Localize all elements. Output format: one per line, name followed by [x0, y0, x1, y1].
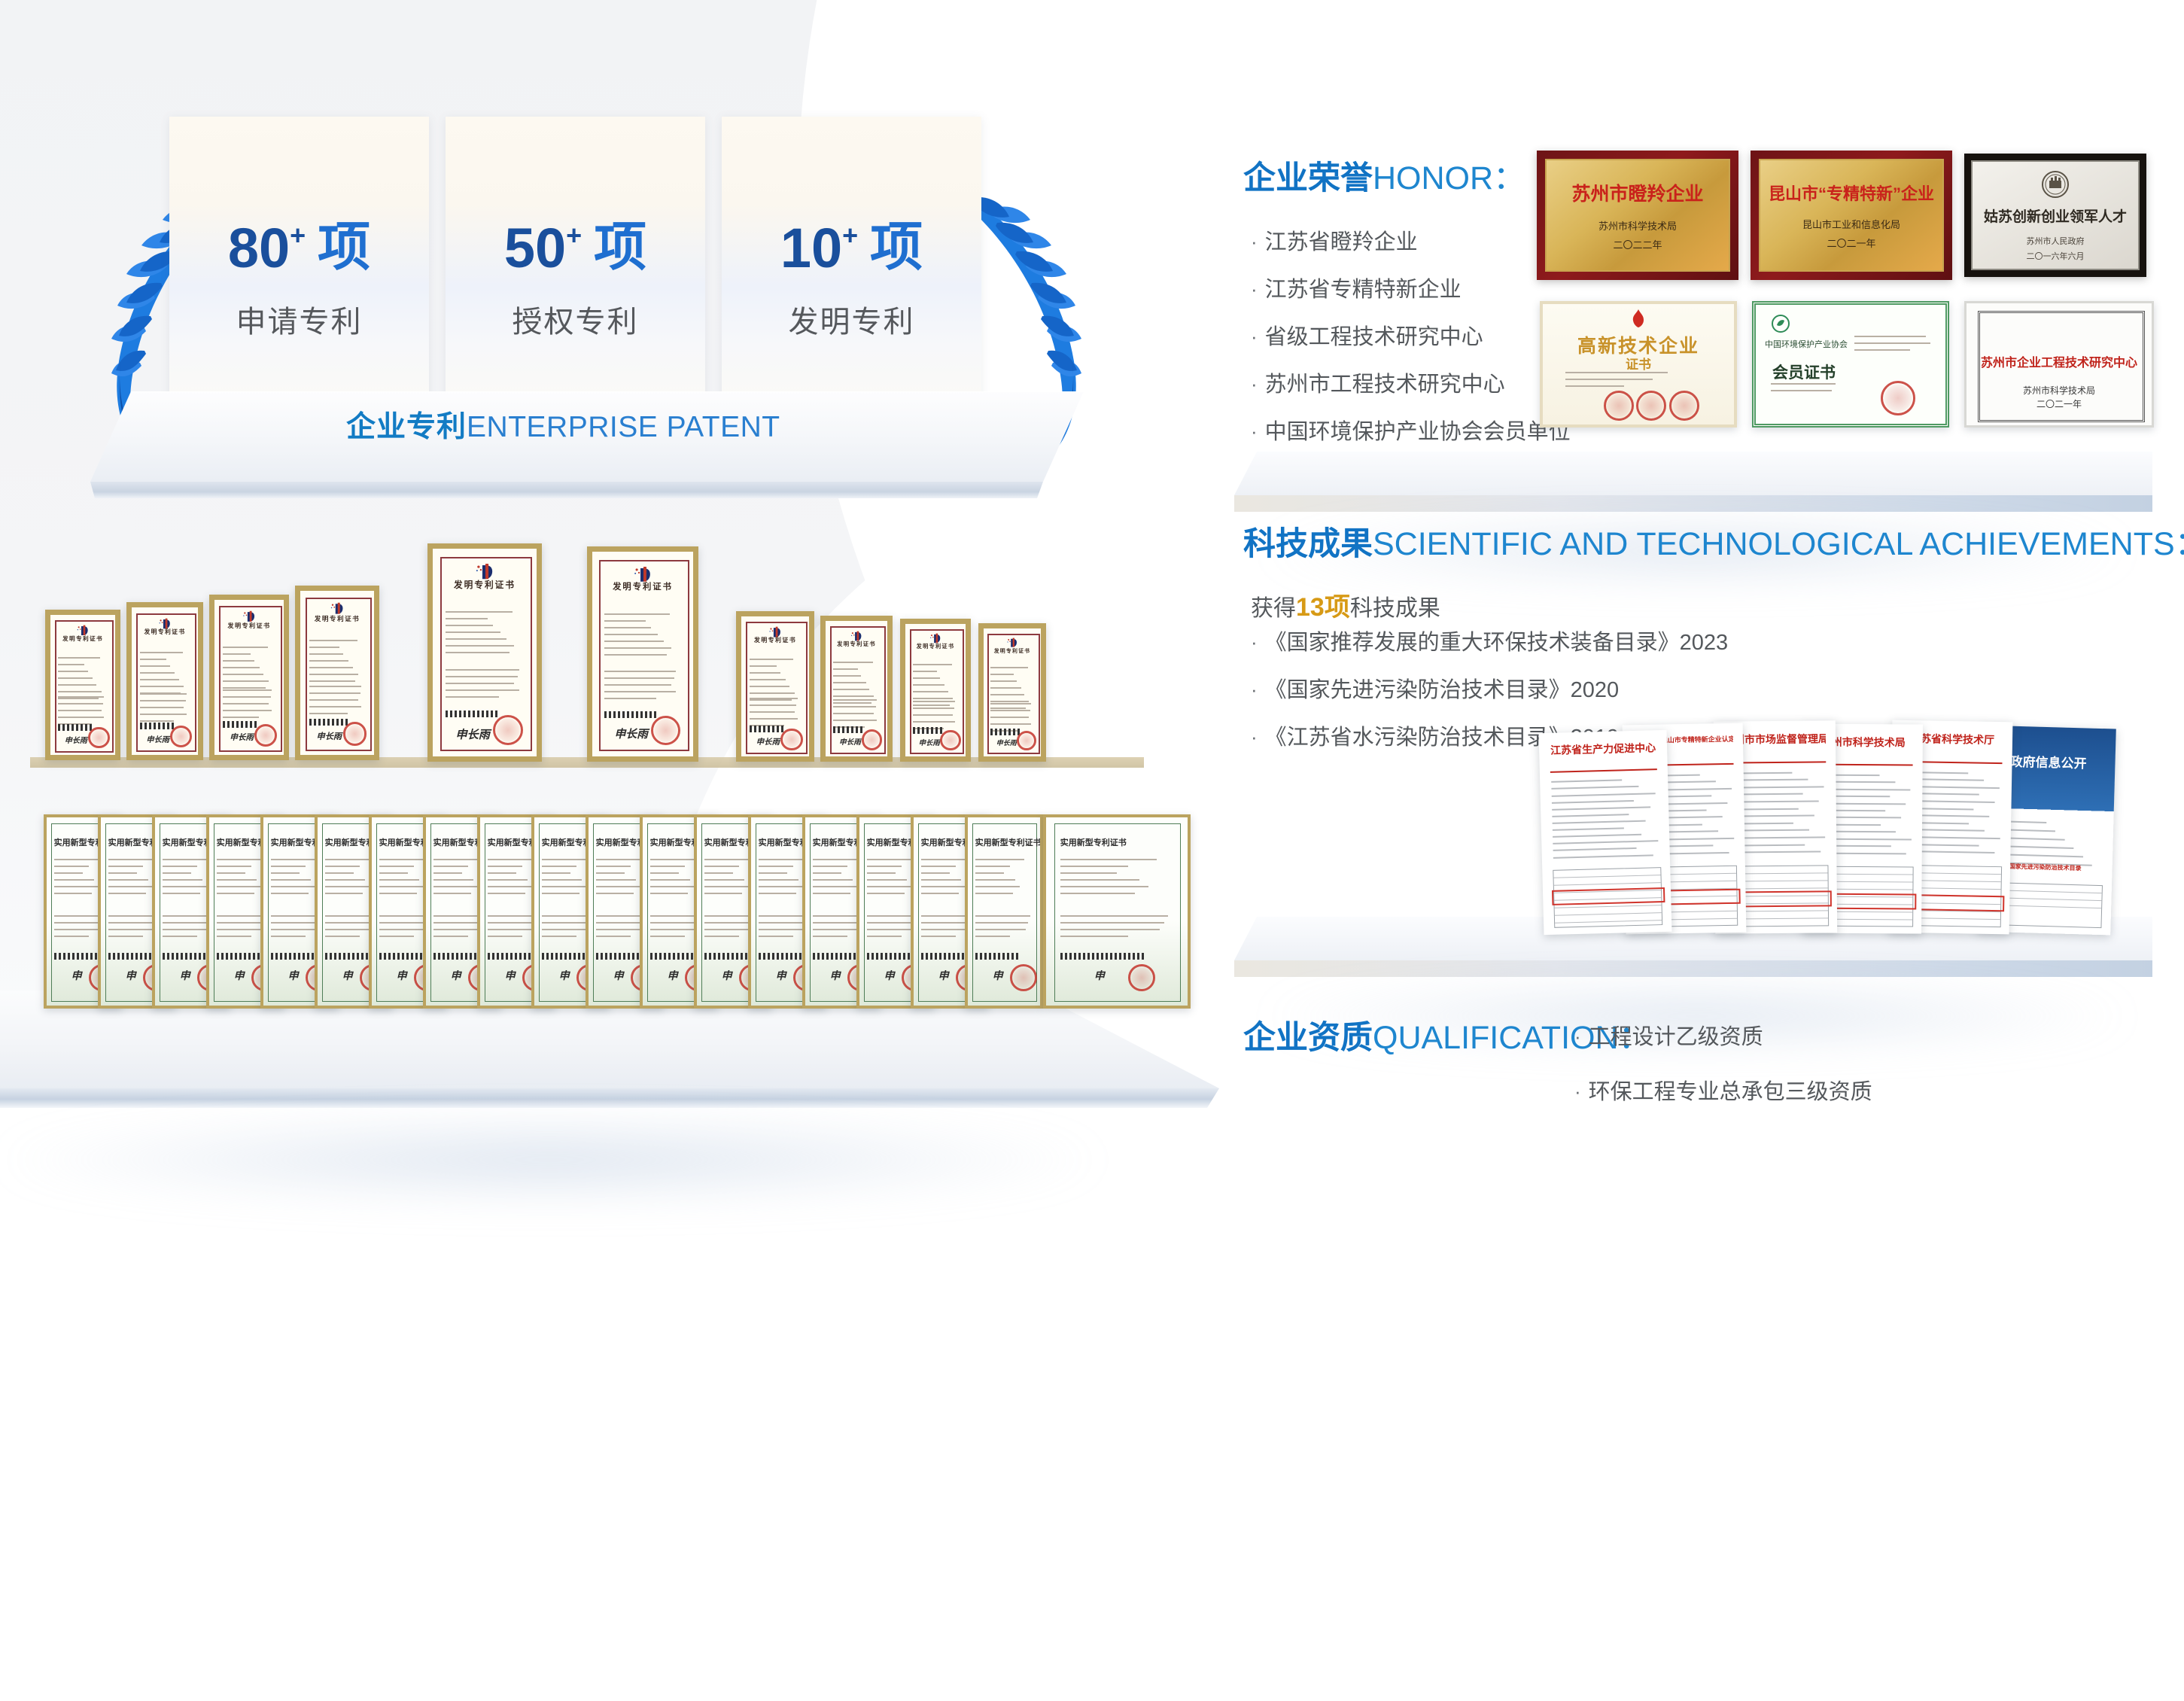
certificate-barcode [433, 953, 477, 960]
shelf-front-edge [1234, 960, 2152, 977]
certificate-text-lines [1854, 336, 1934, 356]
stat-label-applied: 申请专利 [236, 297, 363, 341]
certificate-signature: 申长雨 [65, 734, 87, 745]
certificate-barcode [813, 953, 856, 960]
certificate-barcode [704, 953, 748, 960]
stat-number: 80 [228, 221, 290, 276]
certificate-signature: 申 [451, 968, 461, 983]
shelf-top-surface [1234, 452, 2152, 495]
plaque-face: 姑苏创新创业领军人才 苏州市人民政府 二〇一六年六月 [1971, 160, 2140, 270]
certificate-high-tech-enterprise[interactable]: 高新技术企业 证书 [1540, 301, 1737, 428]
certificate-title: 发明专利证书 [905, 643, 966, 650]
official-seal-icon [1010, 964, 1037, 991]
list-item: ·江苏省瞪羚企业 [1251, 232, 1571, 254]
certificate-barcode [140, 723, 175, 729]
certificate-signature: 申长雨 [839, 736, 861, 747]
bullet-dot-icon: · [1251, 374, 1258, 394]
shelf-front-edge [90, 482, 1084, 498]
certificate-text-lines [604, 613, 679, 661]
certificate-signature: 申 [180, 968, 190, 983]
award-plaque-kunshan-specialized[interactable]: 昆山市“专精特新”企业 昆山市工业和信息化局 二〇二一年 [1751, 151, 1952, 280]
official-seal-icon [1881, 381, 1915, 415]
certificate-title: 发明专利证书 [433, 578, 537, 591]
banner-label-en: ENTERPRISE PATENT [467, 411, 780, 443]
stat-unit: 项 [870, 221, 923, 273]
certificate-barcode [108, 953, 152, 960]
patent-certificate[interactable]: 发明专利证书申长雨 [209, 595, 289, 760]
patent-certificate[interactable]: 发明专利证书申长雨 [736, 611, 814, 762]
certificate-body-lines [604, 671, 679, 704]
honor-heading-en: HONOR： [1373, 160, 1525, 196]
official-seal-icon [1128, 964, 1155, 991]
honor-item-label: 苏州市工程技术研究中心 [1265, 374, 1505, 396]
government-emblem-icon [2040, 169, 2070, 199]
certificate-title: 实用新型专利证书 [1060, 836, 1127, 848]
certificate-body-lines [975, 915, 1033, 942]
plaque-issuer: 苏州市科学技术局 [1598, 218, 1677, 233]
stat-plus: + [566, 222, 582, 249]
patent-certificate[interactable]: 发明专利证书申长雨 [978, 623, 1046, 762]
certificate-subtitle: 证书 [1543, 354, 1734, 373]
honor-item-label: 省级工程技术研究中心 [1265, 327, 1483, 348]
official-seal-icon [254, 724, 277, 747]
stat-number: 50 [504, 221, 566, 276]
certificate-signature: 申 [776, 968, 786, 983]
certificate-signature: 申 [1094, 968, 1105, 983]
scientific-item-label: 《国家推荐发展的重大环保技术装备目录》2023 [1265, 632, 1729, 654]
stat-plus: + [290, 222, 306, 249]
certificate-signature: 申长雨 [455, 726, 490, 742]
certificate-text-lines [223, 647, 274, 694]
certificate-body-lines [223, 689, 274, 723]
certificate-signature: 申长雨 [230, 732, 254, 743]
certificate-barcode [867, 953, 911, 960]
honor-shelf [1234, 452, 2152, 495]
certificate-barcode [759, 953, 802, 960]
cnipa-logo-icon [242, 610, 256, 622]
certificate-barcode [271, 953, 315, 960]
flame-logo-icon [1629, 309, 1648, 328]
stat-label-granted: 授权专利 [513, 297, 639, 341]
certificate-issuer: 苏州市科学技术局 [1967, 384, 2152, 397]
certificate-title: 发明专利证书 [214, 622, 284, 630]
certificate-barcode [1060, 953, 1145, 960]
certificate-barcode [54, 953, 98, 960]
scientific-section-heading: 科技成果SCIENTIFIC AND TECHNOLOGICAL ACHIEVE… [1243, 528, 2184, 561]
certificate-barcode [990, 729, 1021, 735]
certificate-signature: 申长雨 [996, 738, 1017, 747]
certificate-environment-association-member[interactable]: 中国环境保护产业协会 会员证书 [1752, 301, 1949, 428]
scientific-heading-cn: 科技成果 [1243, 526, 1373, 562]
stat-value-invention: 10+项 [780, 221, 923, 276]
honor-item-label: 江苏省专精特新企业 [1265, 279, 1462, 301]
plaque-year: 二〇二一年 [1827, 236, 1875, 250]
list-item: ·《国家推荐发展的重大环保技术装备目录》2023 [1251, 632, 1728, 654]
certificate-barcode [833, 726, 865, 733]
certificate-signature: 申 [938, 968, 949, 983]
certificate-barcode [446, 711, 500, 717]
document-title: 江苏省生产力促进中心 [1549, 741, 1656, 759]
honor-item-label: 中国环境保护产业协会会员单位 [1265, 421, 1571, 443]
certificate-body-lines [309, 686, 364, 720]
scientific-heading-en: SCIENTIFIC AND TECHNOLOGICAL ACHIEVEMENT… [1373, 526, 2184, 562]
honor-item-list: ·江苏省瞪羚企业 ·江苏省专精特新企业 ·省级工程技术研究中心 ·苏州市工程技术… [1251, 232, 1571, 469]
certificate-barcode [542, 953, 586, 960]
award-plaque-suzhou-gazelle[interactable]: 苏州市瞪羚企业 苏州市科学技术局 二〇二二年 [1537, 151, 1738, 280]
bullet-dot-icon: · [1574, 1082, 1581, 1101]
utility-model-certificate[interactable]: 实用新型专利证书申 [965, 814, 1043, 1009]
cnipa-logo-icon [158, 618, 172, 629]
list-item: ·环保工程专业总承包三级资质 [1574, 1082, 1872, 1103]
plaque-year: 二〇一六年六月 [2027, 250, 2085, 262]
stat-unit: 项 [594, 221, 646, 273]
official-seal-icon [780, 729, 803, 751]
shelf-glow [0, 1118, 1099, 1201]
certificate-barcode [379, 953, 423, 960]
list-item: ·中国环境保护产业协会会员单位 [1251, 421, 1571, 443]
enterprise-patent-banner: 企业专利ENTERPRISE PATENT [346, 412, 780, 442]
scientific-achievement-count: 获得13项科技成果 [1251, 595, 1440, 620]
patent-certificate[interactable]: 发明专利证书申长雨 [900, 619, 971, 762]
official-seal-icon [1604, 391, 1634, 421]
patent-certificate[interactable]: 发明专利证书申长雨 [45, 610, 120, 760]
certificate-title: 发明专利证书 [132, 628, 198, 636]
certificate-barcode [325, 953, 369, 960]
certificate-signature: 申 [505, 968, 516, 983]
banner-label-cn: 企业专利 [346, 411, 467, 443]
honor-heading-cn: 企业荣誉 [1243, 160, 1373, 196]
certificate-barcode [223, 721, 259, 728]
patent-certificate[interactable]: 发明专利证书申长雨 [295, 586, 379, 760]
certificate-title: 发明专利证书 [592, 580, 693, 592]
list-item: ·《国家先进污染防治技术目录》2020 [1251, 680, 1728, 701]
certificate-barcode [163, 953, 206, 960]
certificate-text-lines [1060, 859, 1173, 899]
certificate-title: 苏州市企业工程技术研究中心 [1967, 352, 2152, 370]
certificate-signature: 申 [668, 968, 678, 983]
certificate-signature: 申长雨 [756, 735, 780, 747]
certificate-barcode [596, 953, 640, 960]
bullet-dot-icon: · [1251, 680, 1258, 699]
certificate-title: 发明专利证书 [826, 640, 887, 648]
certificate-body-lines [1060, 915, 1173, 942]
certificate-signature: 申 [71, 968, 82, 983]
scientific-item-label: 《国家先进污染防治技术目录》2020 [1265, 680, 1620, 701]
patent-certificate[interactable]: 发明专利证书申长雨 [587, 546, 698, 762]
count-suffix: 科技成果 [1350, 596, 1440, 621]
shelf-front-edge [0, 1088, 1219, 1108]
certificate-title: 发明专利证书 [741, 636, 809, 644]
official-seal-icon [343, 722, 367, 745]
official-seal-icon [940, 730, 960, 750]
certificate-body-lines [446, 669, 522, 703]
association-logo-icon [1771, 314, 1790, 333]
certificate-signature: 申 [830, 968, 841, 983]
certificate-title: 实用新型专利证书 [975, 836, 1042, 848]
bullet-dot-icon: · [1251, 632, 1258, 652]
qualification-item-list: ·工程设计乙级资质 ·环保工程专业总承包三级资质 [1574, 1027, 1872, 1137]
certificate-suzhou-engineering-research-center[interactable]: 苏州市企业工程技术研究中心 苏州市科学技术局 二〇二一年 [1964, 301, 2154, 428]
certificate-signature: 申长雨 [614, 726, 647, 741]
bullet-dot-icon: · [1251, 727, 1258, 747]
certificate-barcode [309, 719, 348, 726]
certificate-text-lines [1771, 383, 1847, 397]
certificate-signature: 申长雨 [146, 733, 169, 744]
certificate-signature: 申 [559, 968, 570, 983]
official-seal-icon [862, 729, 883, 750]
certificate-title: 发明专利证书 [300, 614, 374, 623]
patent-certificate[interactable]: 发明专利证书申长雨 [427, 543, 542, 762]
certificate-signature: 申 [613, 968, 624, 983]
certificate-signature: 申 [397, 968, 407, 983]
certificate-signature: 申长雨 [317, 730, 342, 742]
certificate-signature: 申 [993, 968, 1003, 983]
patent-certificate[interactable]: 发明专利证书申长雨 [126, 602, 203, 760]
count-value: 13项 [1296, 593, 1350, 622]
qualification-item-label: 环保工程专业总承包三级资质 [1589, 1082, 1872, 1103]
bullet-dot-icon: · [1574, 1027, 1581, 1046]
list-item: ·江苏省专精特新企业 [1251, 279, 1571, 301]
official-seal-icon [1669, 391, 1699, 421]
certificate-barcode [975, 953, 1019, 960]
honor-item-label: 江苏省瞪羚企业 [1265, 232, 1418, 254]
plaque-face: 昆山市“专精特新”企业 昆山市工业和信息化局 二〇二一年 [1759, 159, 1944, 272]
certificate-barcode [217, 953, 260, 960]
stat-value-granted: 50+项 [504, 221, 646, 276]
honor-section-heading: 企业荣誉HONOR： [1243, 163, 1525, 195]
certificate-signature: 申 [722, 968, 732, 983]
bullet-dot-icon: · [1251, 421, 1258, 441]
plaque-title: 苏州市瞪羚企业 [1571, 179, 1703, 206]
certificate-text-lines [1565, 372, 1711, 392]
list-item: ·省级工程技术研究中心 [1251, 327, 1571, 348]
utility-model-certificate[interactable]: 实用新型专利证书申 [1043, 814, 1191, 1009]
official-seal-icon [88, 727, 110, 749]
policy-document[interactable]: 江苏省生产力促进中心 [1539, 730, 1672, 935]
bullet-dot-icon: · [1251, 327, 1258, 346]
certificate-text-lines [309, 640, 364, 687]
qualification-heading-cn: 企业资质 [1243, 1020, 1373, 1056]
stat-number: 10 [780, 221, 842, 276]
certificate-barcode [650, 953, 694, 960]
stat-plus: + [842, 222, 858, 249]
certificate-signature: 申 [884, 968, 895, 983]
qualification-item-label: 工程设计乙级资质 [1589, 1027, 1763, 1048]
plaque-face: 苏州市瞪羚企业 苏州市科学技术局 二〇二二年 [1545, 159, 1730, 272]
certificate-year: 二〇二一年 [1967, 397, 2152, 410]
certificate-signature: 申 [234, 968, 245, 983]
list-item: ·工程设计乙级资质 [1574, 1027, 1872, 1048]
stat-card-invention[interactable]: 10+项 发明专利 [722, 117, 981, 410]
certificate-barcode [913, 727, 944, 734]
plaque-issuer: 苏州市人民政府 [2027, 235, 2085, 247]
certificate-barcode [58, 724, 92, 731]
bullet-dot-icon: · [1251, 279, 1258, 299]
patent-certificate[interactable]: 发明专利证书申长雨 [820, 616, 893, 762]
certificate-barcode [604, 711, 657, 718]
stat-label-invention: 发明专利 [789, 297, 915, 341]
certificate-org-name: 中国环境保护产业协会 [1765, 338, 1848, 350]
cnipa-logo-icon [330, 602, 344, 614]
certificate-border [1054, 823, 1180, 1002]
certificate-signature: 申长雨 [919, 737, 940, 747]
bullet-dot-icon: · [1251, 232, 1258, 251]
plaque-year: 二〇二二年 [1613, 237, 1662, 251]
count-prefix: 获得 [1251, 596, 1296, 621]
patent-stats-group: 80+项 申请专利 50+项 授权专利 10+项 发明专利 [169, 117, 982, 410]
certificate-text-lines [140, 652, 189, 699]
certificate-barcode [921, 953, 965, 960]
list-item: ·苏州市工程技术研究中心 [1251, 374, 1571, 396]
stat-unit: 项 [318, 221, 370, 273]
certificate-title: 发明专利证书 [50, 634, 115, 643]
certificate-title: 发明专利证书 [984, 647, 1041, 654]
shelf-front-edge [1234, 495, 2152, 512]
certificate-barcode [488, 953, 531, 960]
official-seal-icon [1636, 391, 1666, 421]
plaque-title: 姑苏创新创业领军人才 [1984, 205, 2127, 226]
certificate-text-lines [975, 859, 1033, 899]
stat-value-applied: 80+项 [228, 221, 370, 276]
official-seal-icon [651, 716, 681, 746]
plaque-title: 昆山市“专精特新”企业 [1769, 181, 1934, 205]
certificate-signature: 申 [126, 968, 136, 983]
certificate-signature: 申 [288, 968, 299, 983]
official-seal-icon [170, 726, 192, 747]
certificate-text-lines [446, 611, 522, 659]
stat-card-applied[interactable]: 80+项 申请专利 [169, 117, 429, 410]
stat-card-granted[interactable]: 50+项 授权专利 [446, 117, 705, 410]
certificate-barcode [750, 726, 785, 732]
plaque-issuer: 昆山市工业和信息化局 [1802, 217, 1900, 231]
certificate-signature: 申 [342, 968, 353, 983]
certificate-title: 会员证书 [1772, 361, 1836, 383]
award-plaque-gusu-leading-talent[interactable]: 姑苏创新创业领军人才 苏州市人民政府 二〇一六年六月 [1964, 154, 2146, 277]
